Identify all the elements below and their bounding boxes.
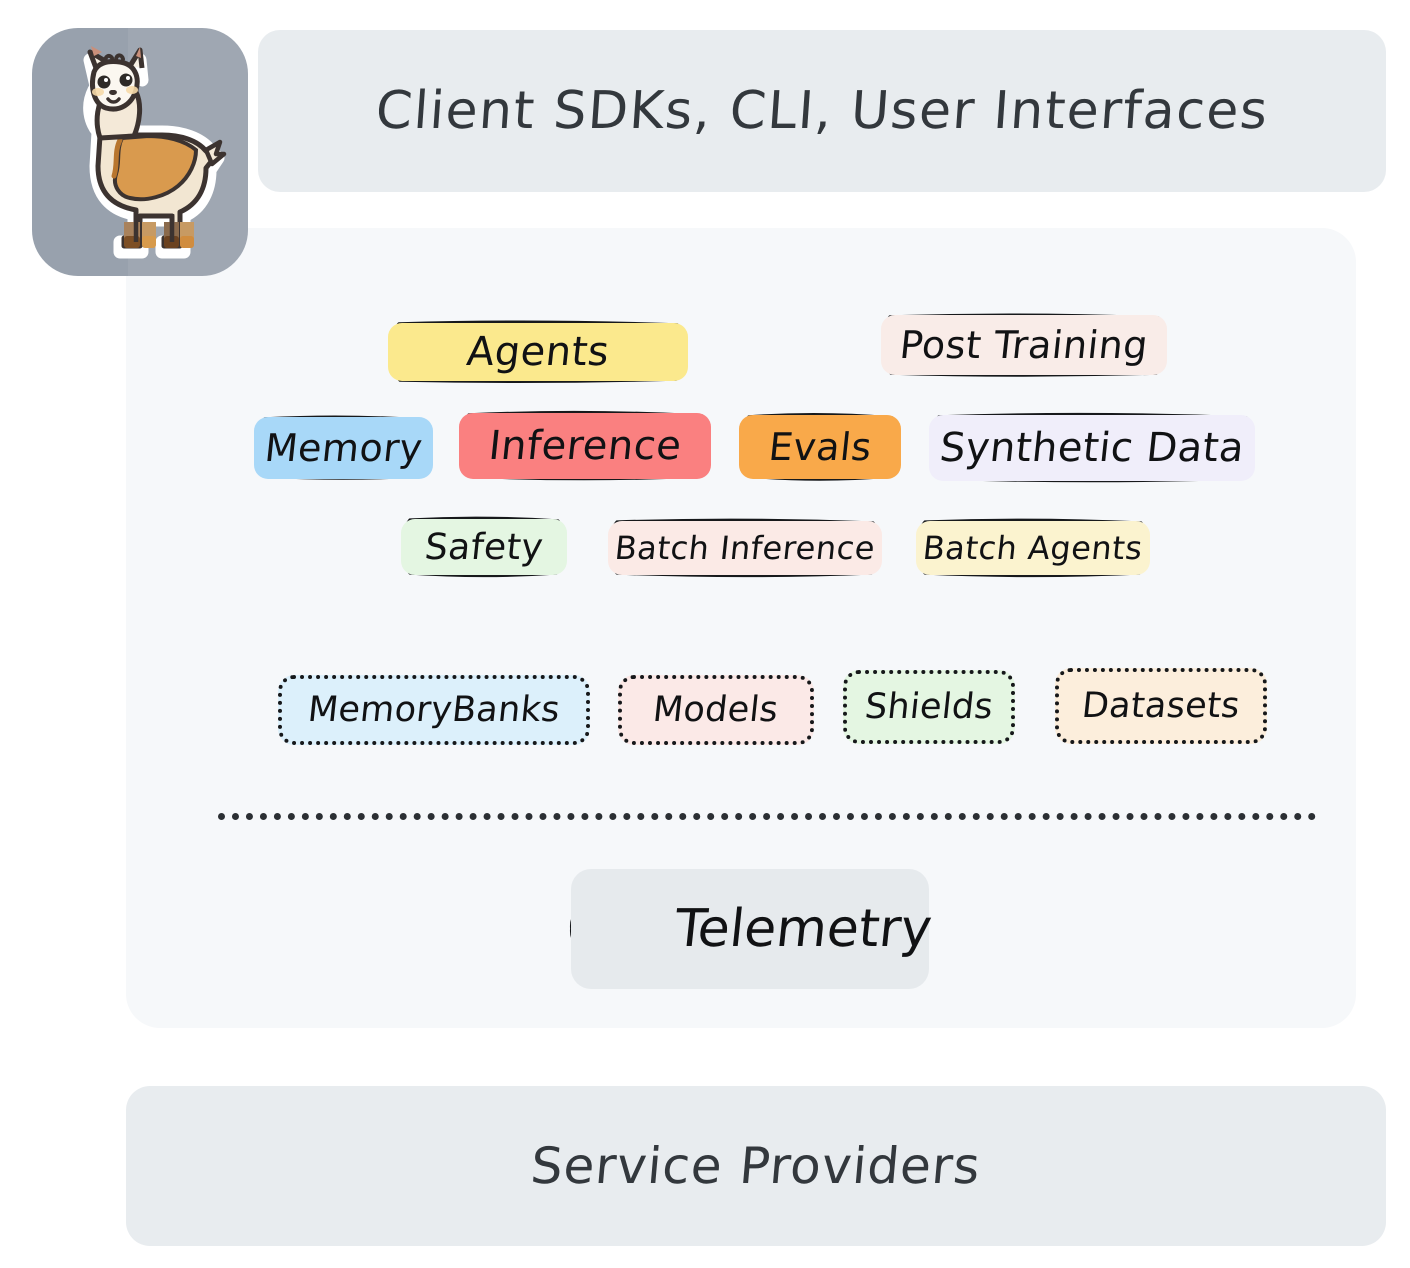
client-interfaces-bar: Client SDKs, CLI, User Interfaces	[258, 30, 1386, 192]
telemetry-label: Telemetry	[672, 899, 935, 959]
evals-label: Evals	[766, 425, 873, 469]
llama-icon	[50, 46, 232, 260]
service-providers-bar: Service Providers	[126, 1086, 1386, 1246]
api-box-post-training[interactable]: Post Training	[878, 312, 1170, 378]
api-box-evals[interactable]: Evals	[736, 412, 904, 482]
llama-stack-panel: Agents Post Training Memory Inference	[126, 228, 1356, 1028]
api-box-memory[interactable]: Memory	[251, 414, 436, 482]
resource-box-datasets[interactable]: Datasets	[1055, 668, 1267, 744]
page-title: Client SDKs, CLI, User Interfaces	[374, 81, 1271, 141]
llama-logo-badge	[32, 28, 248, 276]
shields-label: Shields	[863, 687, 995, 727]
agents-label: Agents	[464, 329, 611, 375]
datasets-label: Datasets	[1080, 686, 1242, 726]
api-box-safety[interactable]: Safety	[398, 516, 570, 578]
resource-box-models[interactable]: Models	[618, 675, 814, 745]
api-box-batch-inference[interactable]: Batch Inference	[605, 518, 885, 578]
resource-box-memorybanks[interactable]: MemoryBanks	[278, 675, 590, 745]
post-training-label: Post Training	[898, 323, 1151, 367]
memorybanks-label: MemoryBanks	[306, 690, 562, 730]
resource-box-shields[interactable]: Shields	[843, 670, 1015, 744]
synthetic-data-label: Synthetic Data	[938, 425, 1247, 471]
safety-label: Safety	[423, 527, 545, 568]
section-divider	[218, 813, 1316, 820]
models-label: Models	[651, 690, 780, 730]
batch-agents-label: Batch Agents	[921, 529, 1145, 567]
api-box-inference[interactable]: Inference	[456, 410, 714, 482]
footer-title: Service Providers	[529, 1137, 984, 1195]
telemetry-box[interactable]: Telemetry	[568, 866, 932, 992]
memory-label: Memory	[262, 426, 424, 470]
api-box-synthetic-data[interactable]: Synthetic Data	[926, 412, 1258, 484]
api-box-batch-agents[interactable]: Batch Agents	[913, 518, 1153, 578]
batch-inference-label: Batch Inference	[613, 529, 877, 567]
inference-label: Inference	[486, 423, 683, 469]
api-box-agents[interactable]: Agents	[385, 320, 691, 384]
